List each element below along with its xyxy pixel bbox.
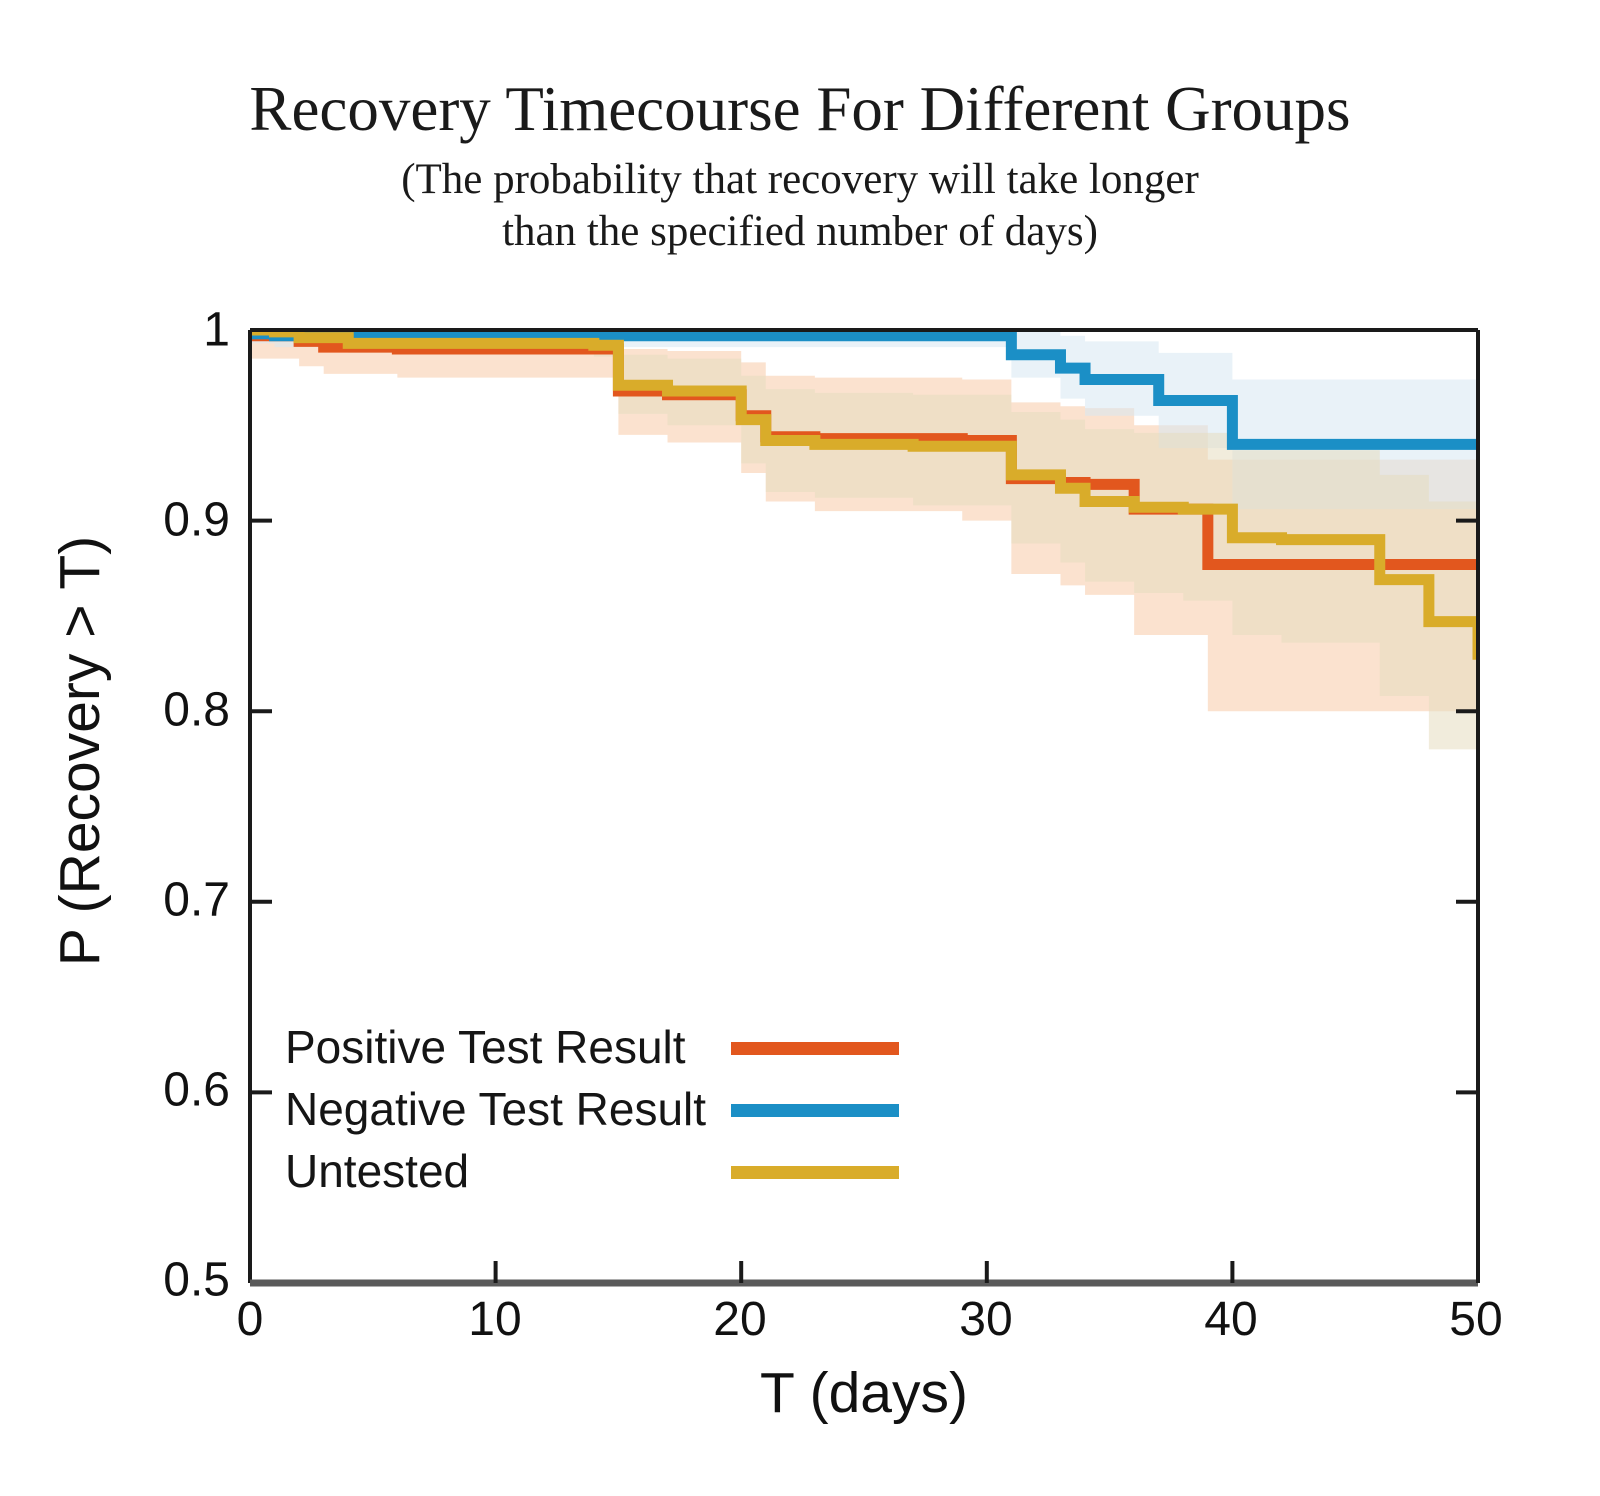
legend-label-positive: Positive Test Result [285,1018,686,1076]
legend-swatch-positive [731,1042,899,1055]
figure-root: Recovery Timecourse For Different Groups… [0,0,1600,1496]
legend-label-untested: Untested [285,1142,469,1200]
legend-swatch-negative [731,1104,899,1117]
legend-item-untested[interactable]: Untested [285,1142,905,1204]
legend-swatch-untested [731,1166,899,1179]
plot-area [0,0,1600,1496]
legend-item-negative[interactable]: Negative Test Result [285,1080,905,1142]
legend: Positive Test Result Negative Test Resul… [285,1018,905,1204]
legend-label-negative: Negative Test Result [285,1080,706,1138]
legend-item-positive[interactable]: Positive Test Result [285,1018,905,1080]
